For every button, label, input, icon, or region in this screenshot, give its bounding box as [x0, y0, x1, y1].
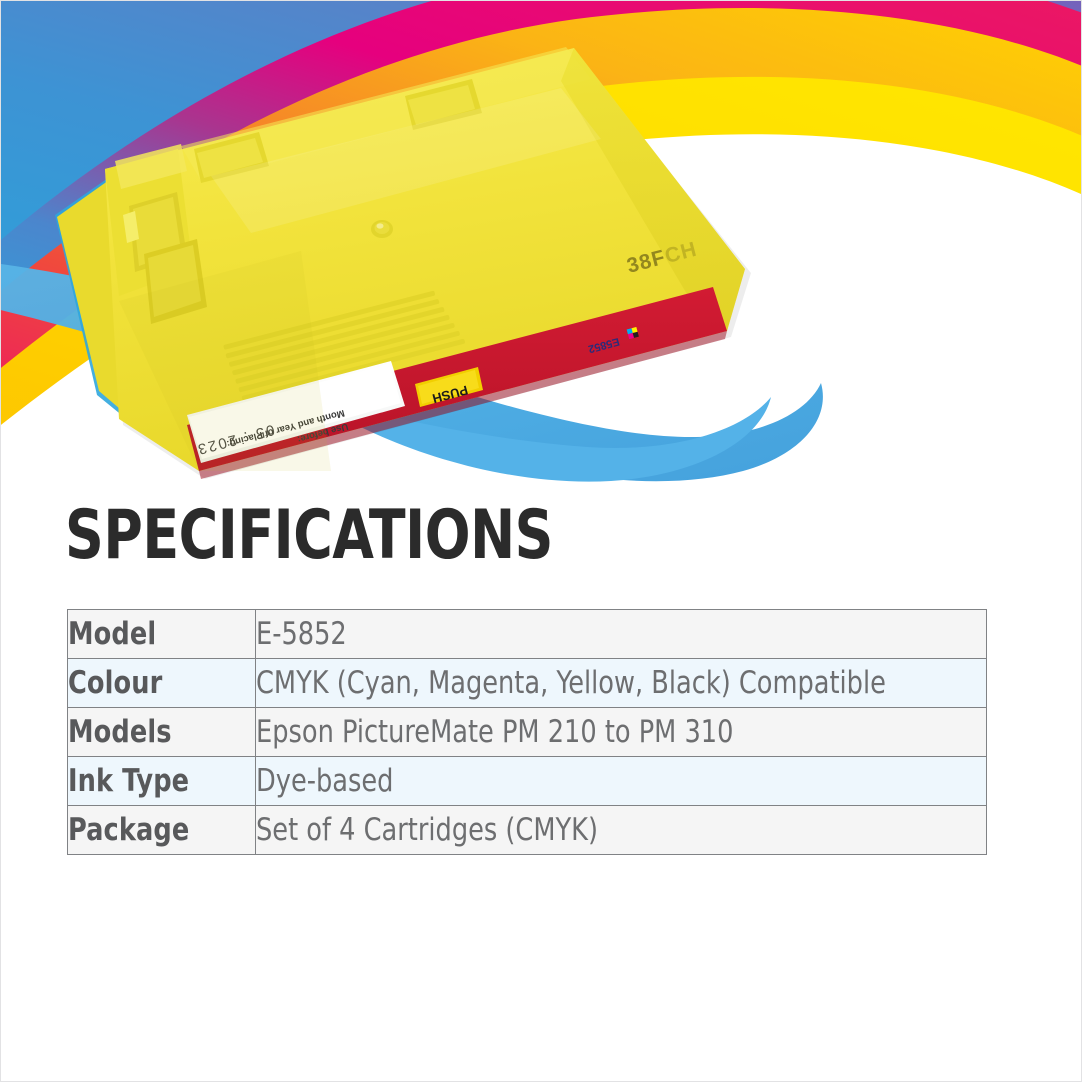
spec-value-text: Epson PictureMate PM 210 to PM 310 [256, 708, 928, 756]
specifications-table-container: Model E-5852 Colour CMYK (Cyan, Magenta,… [67, 609, 987, 855]
spec-key-label: Package [68, 812, 240, 848]
product-specification-card: 38FCH Month and Year of Placing: Use bef… [0, 0, 1082, 1082]
spec-key-cell: Models [68, 708, 256, 757]
product-hero-image: 38FCH Month and Year of Placing: Use bef… [1, 1, 1081, 493]
table-row: Package Set of 4 Cartridges (CMYK) [68, 806, 987, 855]
table-row: Models Epson PictureMate PM 210 to PM 31… [68, 708, 987, 757]
cartridge-illustration: 38FCH Month and Year of Placing: Use bef… [1, 1, 1081, 493]
spec-value-cell: Dye-based [256, 757, 987, 806]
spec-value-text: Set of 4 Cartridges (CMYK) [256, 806, 928, 854]
spec-key-label: Colour [68, 665, 240, 701]
spec-value-text: CMYK (Cyan, Magenta, Yellow, Black) Comp… [256, 659, 928, 707]
spec-key-cell: Package [68, 806, 256, 855]
spec-value-cell: E-5852 [256, 610, 987, 659]
spec-value-cell: Set of 4 Cartridges (CMYK) [256, 806, 987, 855]
table-row: Model E-5852 [68, 610, 987, 659]
spec-key-cell: Model [68, 610, 256, 659]
spec-value-cell: CMYK (Cyan, Magenta, Yellow, Black) Comp… [256, 659, 987, 708]
spec-key-cell: Ink Type [68, 757, 256, 806]
spec-value-cell: Epson PictureMate PM 210 to PM 310 [256, 708, 987, 757]
spec-key-label: Model [68, 616, 240, 652]
spec-value-text: Dye-based [256, 757, 928, 805]
page-title: SPECIFICATIONS [65, 497, 553, 575]
spec-key-label: Ink Type [68, 763, 240, 799]
table-row: Ink Type Dye-based [68, 757, 987, 806]
spec-key-label: Models [68, 714, 240, 750]
specifications-table: Model E-5852 Colour CMYK (Cyan, Magenta,… [67, 609, 987, 855]
spec-value-text: E-5852 [256, 610, 928, 658]
spec-key-cell: Colour [68, 659, 256, 708]
table-row: Colour CMYK (Cyan, Magenta, Yellow, Blac… [68, 659, 987, 708]
